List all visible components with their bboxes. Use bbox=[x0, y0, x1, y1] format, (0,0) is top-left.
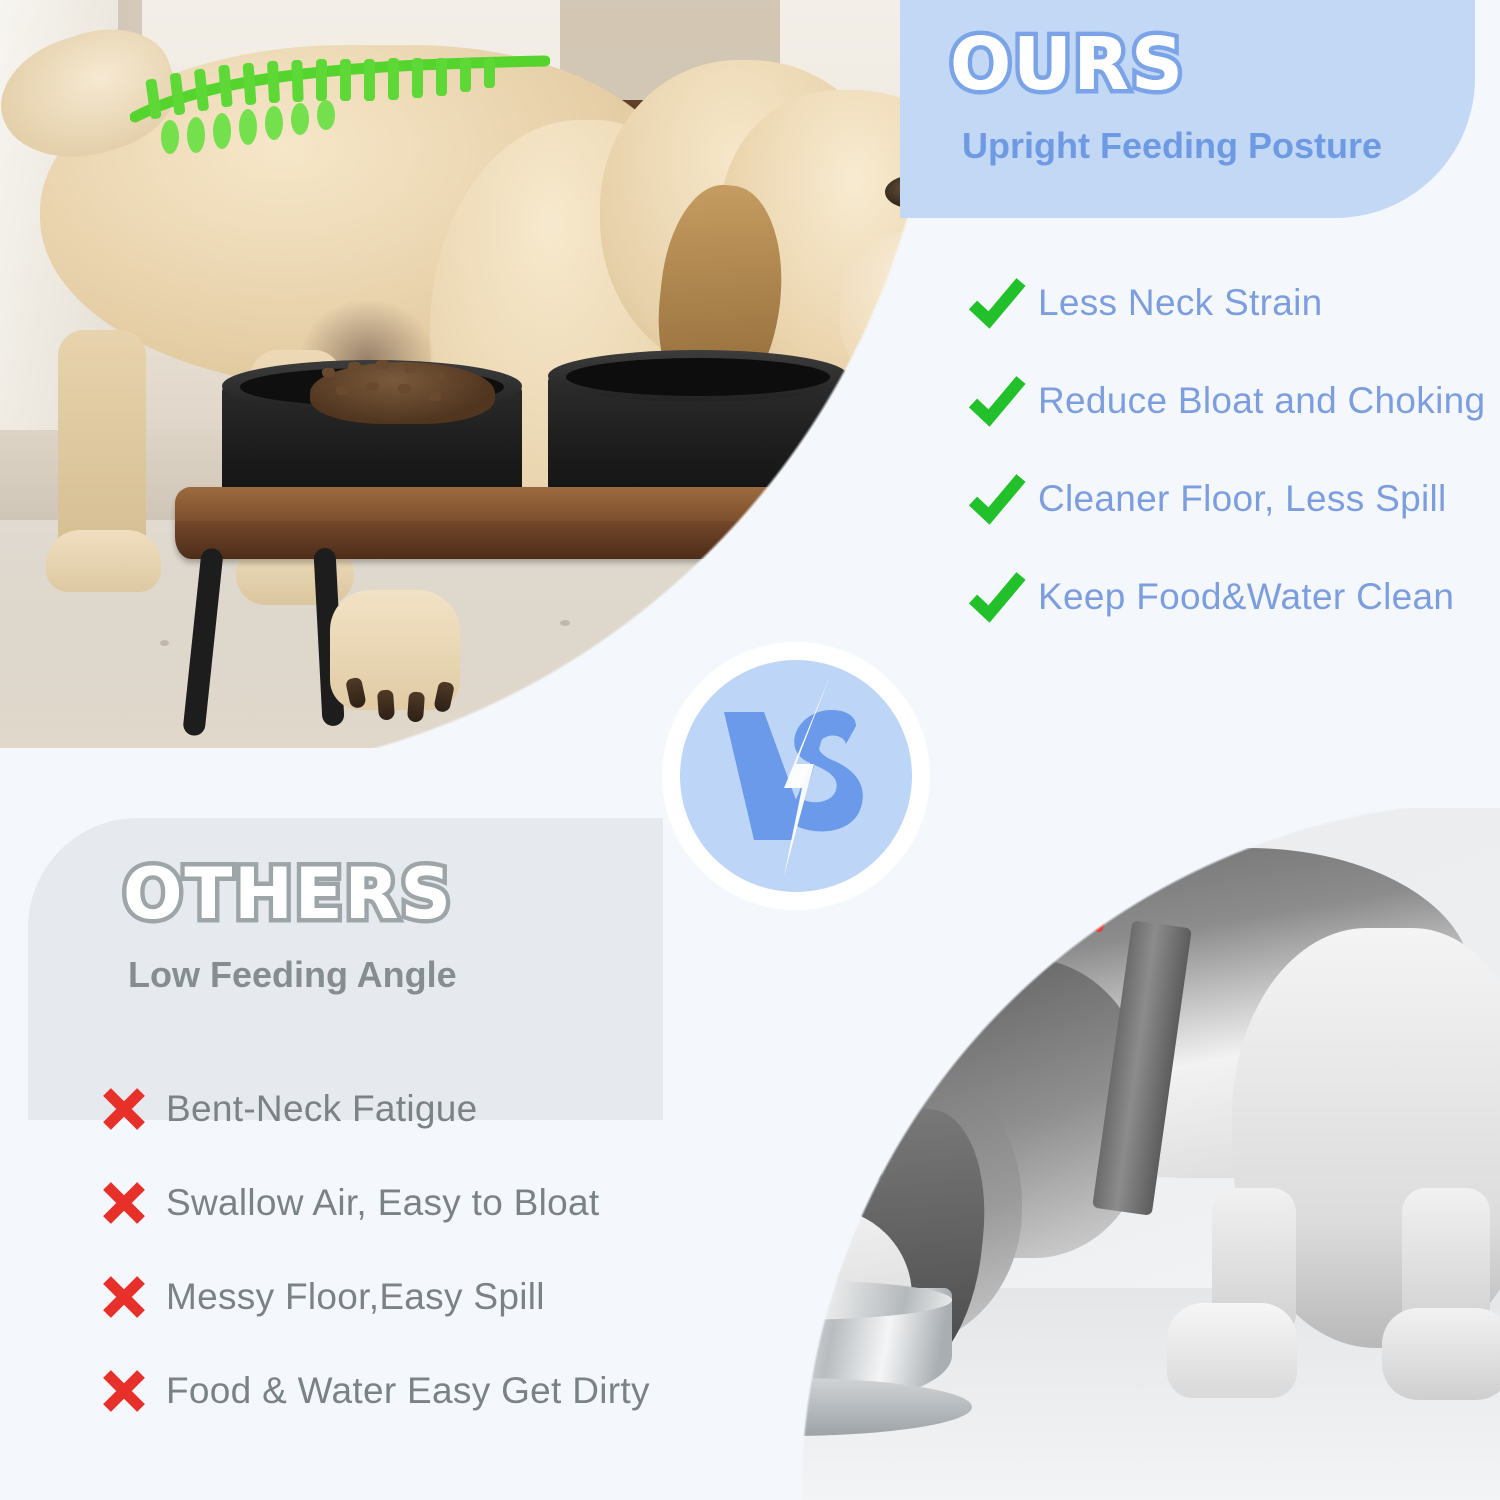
others-photo bbox=[612, 808, 1500, 1500]
others-heading-fill: OTHERS bbox=[123, 853, 453, 935]
ours-photo bbox=[0, 0, 950, 748]
kibble bbox=[366, 382, 379, 391]
drawback-item: Swallow Air, Easy to Bloat bbox=[100, 1174, 720, 1232]
others-subheading: Low Feeding Angle bbox=[128, 954, 457, 996]
drawback-item: Food & Water Easy Get Dirty bbox=[100, 1362, 720, 1420]
benefit-label: Less Neck Strain bbox=[1038, 282, 1322, 324]
benefit-item: Less Neck Strain bbox=[968, 272, 1488, 334]
dog-nail bbox=[407, 691, 425, 722]
check-icon bbox=[968, 568, 1026, 626]
kibble bbox=[376, 360, 389, 369]
drawback-label: Food & Water Easy Get Dirty bbox=[166, 1370, 650, 1412]
benefit-label: Keep Food&Water Clean bbox=[1038, 576, 1454, 618]
floor-speck bbox=[800, 560, 809, 566]
vs-badge bbox=[662, 642, 930, 910]
wood-stand-edge bbox=[175, 487, 875, 521]
kibble bbox=[404, 364, 417, 373]
ours-header-panel: OURS OURS Upright Feeding Posture bbox=[900, 0, 1475, 218]
check-icon bbox=[968, 470, 1026, 528]
cross-icon bbox=[100, 1085, 148, 1133]
others-header-panel: OTHERS OTHERS Low Feeding Angle bbox=[28, 818, 663, 1120]
beagle-eye bbox=[842, 1163, 882, 1185]
cross-icon bbox=[100, 1273, 148, 1321]
benefit-item: Cleaner Floor, Less Spill bbox=[968, 468, 1488, 530]
kibble bbox=[336, 386, 349, 395]
floor-speck bbox=[160, 640, 169, 646]
benefit-label: Cleaner Floor, Less Spill bbox=[1038, 478, 1447, 520]
benefit-item: Reduce Bloat and Choking bbox=[968, 370, 1488, 432]
water-bowl-interior bbox=[566, 358, 830, 396]
drawback-item: Bent-Neck Fatigue bbox=[100, 1080, 720, 1138]
kibble bbox=[348, 362, 361, 371]
kibble bbox=[322, 368, 335, 377]
beagle-paw bbox=[1382, 1308, 1500, 1400]
benefit-item: Keep Food&Water Clean bbox=[968, 566, 1488, 628]
cross-icon bbox=[100, 1367, 148, 1415]
dog-nail bbox=[377, 689, 395, 720]
cross-icon bbox=[100, 1179, 148, 1227]
check-icon bbox=[968, 372, 1026, 430]
green-spine-overlay bbox=[130, 55, 550, 165]
ours-heading-fill: OURS bbox=[950, 22, 1185, 106]
dog-paw bbox=[46, 530, 161, 592]
others-drawback-list: Bent-Neck Fatigue Swallow Air, Easy to B… bbox=[100, 1080, 720, 1420]
benefit-label: Reduce Bloat and Choking bbox=[1038, 380, 1485, 422]
kibble bbox=[432, 372, 445, 381]
kibble bbox=[428, 392, 441, 401]
comparison-infographic: OURS OURS Upright Feeding Posture Less N… bbox=[0, 0, 1500, 1500]
drawback-label: Bent-Neck Fatigue bbox=[166, 1088, 478, 1130]
kibble bbox=[398, 384, 411, 393]
drawback-label: Messy Floor,Easy Spill bbox=[166, 1276, 545, 1318]
floor-speck bbox=[560, 620, 570, 626]
drawback-label: Swallow Air, Easy to Bloat bbox=[166, 1182, 600, 1224]
beagle-paw bbox=[1167, 1303, 1297, 1398]
vs-lightning-icon bbox=[680, 660, 912, 892]
ours-subheading: Upright Feeding Posture bbox=[962, 125, 1382, 167]
check-icon bbox=[968, 274, 1026, 332]
ours-benefit-list: Less Neck Strain Reduce Bloat and Chokin… bbox=[968, 272, 1488, 628]
drawback-item: Messy Floor,Easy Spill bbox=[100, 1268, 720, 1326]
